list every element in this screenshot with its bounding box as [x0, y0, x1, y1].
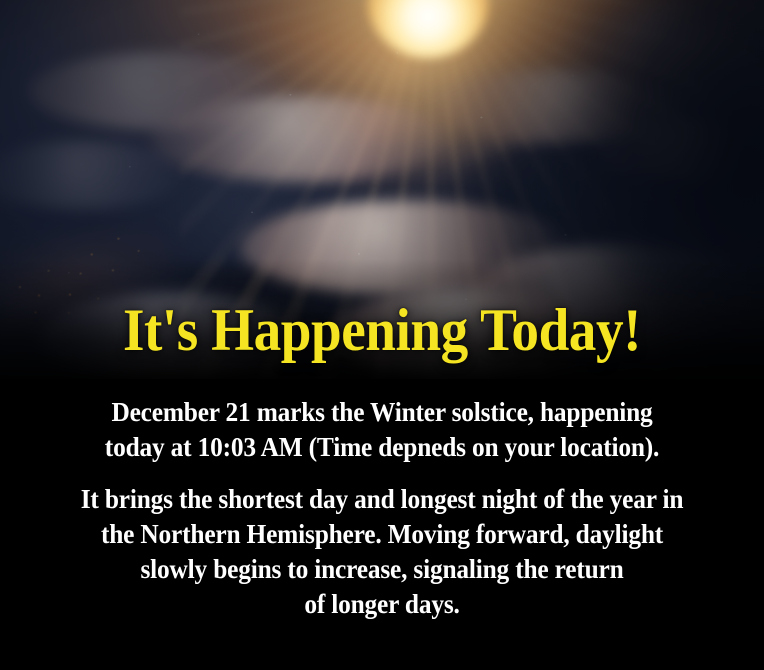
body-line: of longer days. [55, 587, 709, 622]
headline: It's Happening Today! [31, 300, 734, 360]
body-line: today at 10:03 AM (Time depneds on your … [55, 430, 709, 465]
body-line: It brings the shortest day and longest n… [55, 482, 709, 517]
body-line: slowly begins to increase, signaling the… [55, 552, 709, 587]
body-paragraph-1: December 21 marks the Winter solstice, h… [23, 395, 741, 465]
text-panel: December 21 marks the Winter solstice, h… [0, 379, 764, 670]
body-line: the Northern Hemisphere. Moving forward,… [55, 517, 709, 552]
body-paragraph-2: It brings the shortest day and longest n… [23, 482, 741, 622]
solstice-poster: It's Happening Today! December 21 marks … [0, 0, 764, 670]
body-line: December 21 marks the Winter solstice, h… [55, 395, 709, 430]
